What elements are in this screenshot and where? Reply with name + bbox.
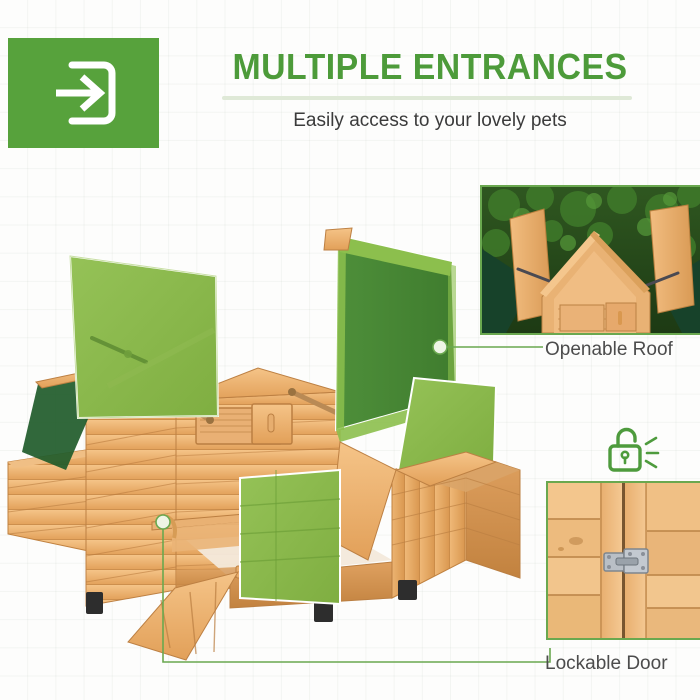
left-roof-panel-open: [70, 256, 218, 418]
title-divider: [222, 96, 632, 100]
callout-line-openable-roof: [433, 340, 543, 354]
run-box-right: [392, 452, 520, 598]
page-subtitle: Easily access to your lovely pets: [180, 108, 680, 134]
roof-support-struts: [94, 352, 352, 424]
right-roof-flap: [300, 442, 496, 560]
openable-roof-photo: [480, 185, 700, 335]
roof-felt: [22, 366, 118, 470]
entry-ramp: [128, 572, 238, 660]
callout-line-lockable-door: [156, 515, 550, 662]
lockable-door-photo: [546, 481, 700, 640]
door-latch: [604, 549, 648, 573]
header: MULTIPLE ENTRANCES Easily access to your…: [0, 0, 700, 170]
callout-label-lockable-door: Lockable Door: [545, 653, 668, 675]
front-door-open: [166, 470, 340, 604]
right-roof-panel-open: [398, 378, 520, 470]
nest-box-left: [8, 446, 118, 556]
callout-label-openable-roof: Openable Roof: [545, 339, 673, 361]
page-title: MULTIPLE ENTRANCES: [195, 46, 665, 88]
center-roof-panel-open: [324, 228, 456, 442]
enter-arrow-icon-tile: [8, 38, 159, 148]
coop-main-body: [86, 368, 392, 608]
enter-arrow-icon: [46, 55, 122, 131]
product-feature-card: MULTIPLE ENTRANCES Easily access to your…: [0, 0, 700, 700]
coop-legs: [86, 580, 417, 622]
unlocked-padlock-icon: [604, 424, 660, 476]
